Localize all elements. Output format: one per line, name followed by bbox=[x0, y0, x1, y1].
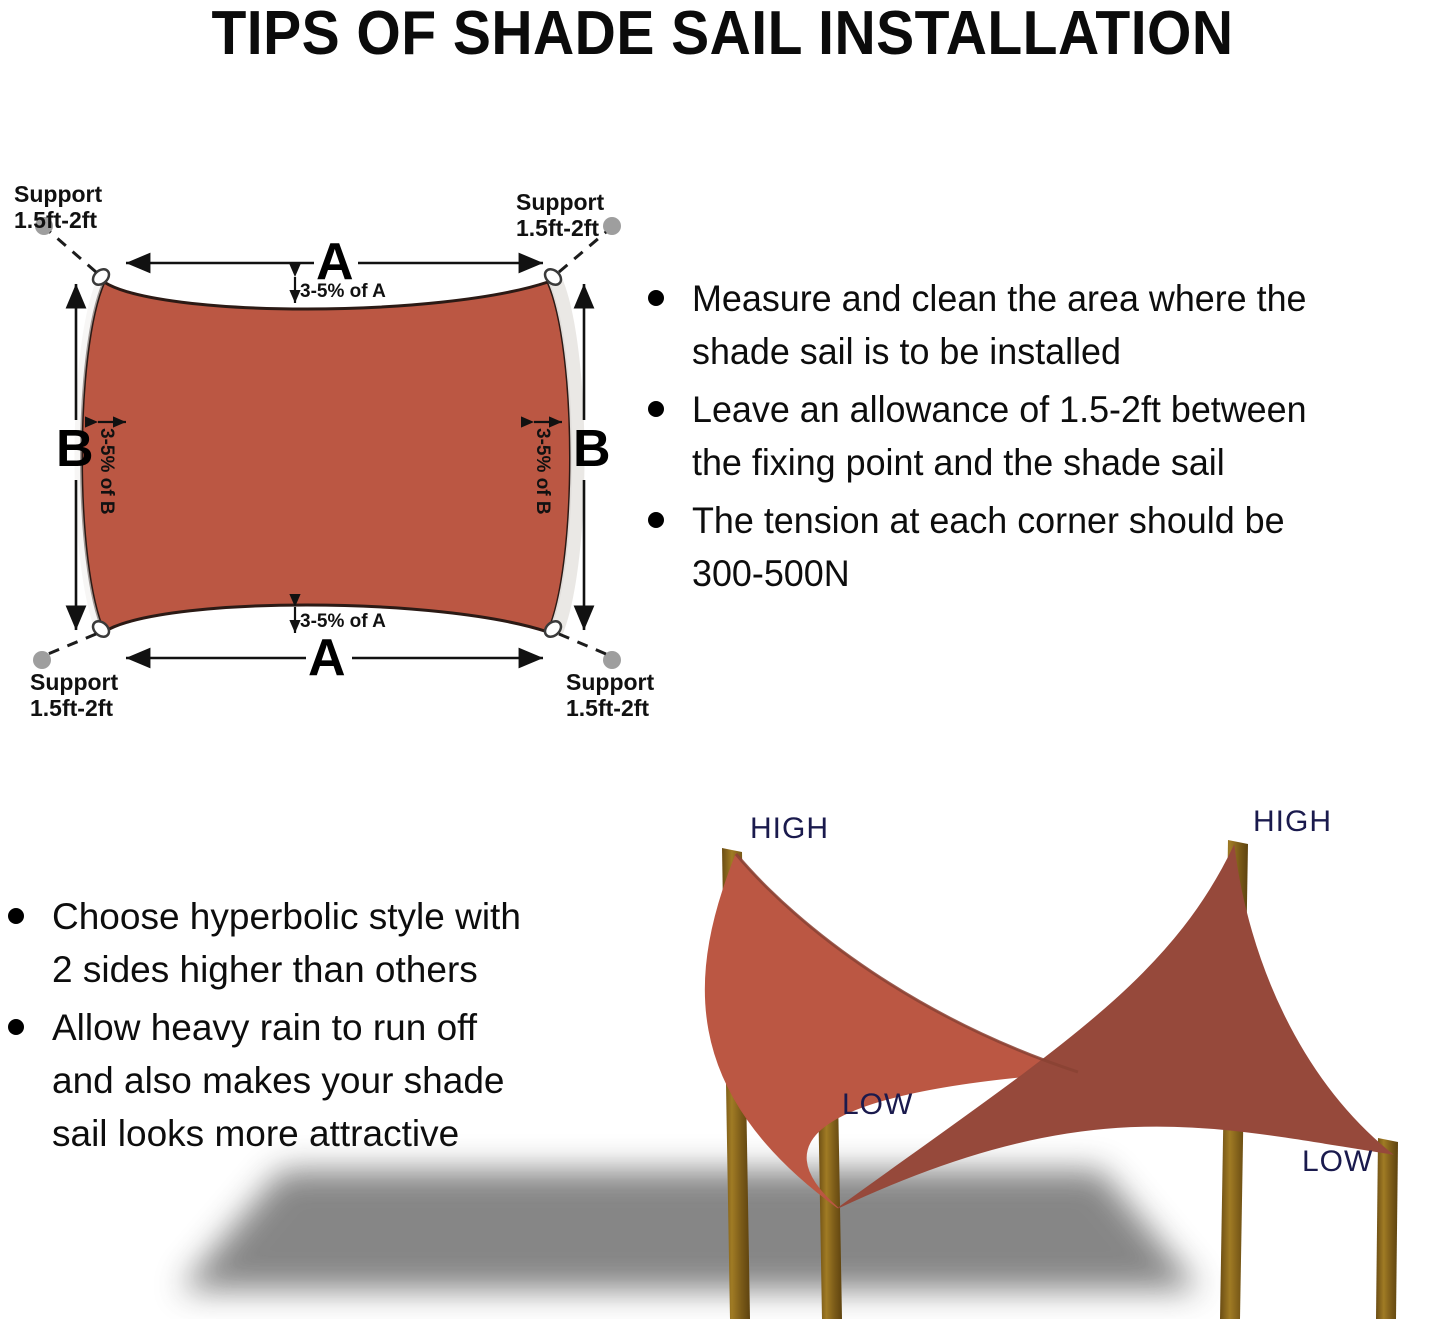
list-item: Allow heavy rain to run off and also mak… bbox=[8, 1001, 628, 1160]
tip-line: 2 sides higher than others bbox=[52, 943, 628, 996]
bullet-dot-icon bbox=[648, 401, 664, 417]
list-item: Measure and clean the area where the sha… bbox=[648, 272, 1445, 378]
bullet-dot-icon bbox=[648, 290, 664, 306]
support-label-line1: Support bbox=[14, 181, 102, 207]
tip-line: sail looks more attractive bbox=[52, 1107, 628, 1160]
tip-line: Leave an allowance of 1.5-2ft between bbox=[692, 383, 1425, 436]
support-label-line1: Support bbox=[516, 189, 604, 215]
post-low-right bbox=[1376, 1138, 1398, 1319]
support-label-top-left: Support 1.5ft-2ft bbox=[14, 182, 102, 234]
support-label-line1: Support bbox=[566, 669, 654, 695]
sail-panel-left bbox=[705, 854, 1078, 1208]
tip-line: Choose hyperbolic style with bbox=[52, 890, 628, 943]
tip-line: Allow heavy rain to run off bbox=[52, 1001, 628, 1054]
tip-line: 300-500N bbox=[692, 547, 1425, 600]
tip-line: Measure and clean the area where the bbox=[692, 272, 1425, 325]
page-title: TIPS OF SHADE SAIL INSTALLATION bbox=[58, 0, 1387, 69]
support-label-line2: 1.5ft-2ft bbox=[14, 208, 102, 234]
sail-seam bbox=[736, 854, 1078, 1072]
sail-shape bbox=[82, 282, 571, 632]
support-label-line1: Support bbox=[30, 669, 118, 695]
tip-line: the fixing point and the shade sail bbox=[692, 436, 1425, 489]
support-label-line2: 1.5ft-2ft bbox=[566, 696, 654, 722]
support-label-top-right: Support 1.5ft-2ft bbox=[516, 190, 604, 242]
bullet-dot-icon bbox=[8, 1019, 24, 1035]
dimension-label-b-left: B bbox=[56, 423, 94, 475]
bullet-dot-icon bbox=[648, 512, 664, 528]
tips-list-right: Measure and clean the area where the sha… bbox=[648, 272, 1445, 605]
dimension-label-a-bottom: A bbox=[308, 632, 346, 684]
curve-allowance-right: 3-5% of B bbox=[531, 428, 553, 515]
support-label-line2: 1.5ft-2ft bbox=[30, 696, 118, 722]
support-label-bottom-right: Support 1.5ft-2ft bbox=[566, 670, 654, 722]
list-item: The tension at each corner should be 300… bbox=[648, 494, 1445, 600]
tip-line: shade sail is to be installed bbox=[692, 325, 1425, 378]
dimension-label-b-right: B bbox=[573, 423, 611, 475]
curve-allowance-bottom: 3-5% of A bbox=[300, 611, 386, 633]
post-low-left bbox=[818, 1090, 842, 1319]
tips-list-bottom: Choose hyperbolic style with 2 sides hig… bbox=[8, 890, 628, 1165]
curve-allowance-top: 3-5% of A bbox=[300, 281, 386, 303]
label-high-right: HIGH bbox=[1253, 805, 1332, 839]
post-high-right bbox=[1220, 840, 1248, 1319]
post-high-left bbox=[722, 848, 750, 1319]
support-label-line2: 1.5ft-2ft bbox=[516, 216, 604, 242]
list-item: Leave an allowance of 1.5-2ft between th… bbox=[648, 383, 1445, 489]
infographic-page: TIPS OF SHADE SAIL INSTALLATION bbox=[0, 0, 1445, 1319]
curve-allowance-left: 3-5% of B bbox=[95, 428, 117, 515]
support-label-bottom-left: Support 1.5ft-2ft bbox=[30, 670, 118, 722]
tip-line: and also makes your shade bbox=[52, 1054, 628, 1107]
label-low-left: LOW bbox=[842, 1088, 913, 1122]
corner-eyelets bbox=[90, 266, 564, 640]
tip-line: The tension at each corner should be bbox=[692, 494, 1425, 547]
ground-shadow bbox=[180, 1170, 1200, 1290]
label-low-right: LOW bbox=[1302, 1145, 1373, 1179]
list-item: Choose hyperbolic style with 2 sides hig… bbox=[8, 890, 628, 996]
bullet-dot-icon bbox=[8, 908, 24, 924]
label-high-left: HIGH bbox=[750, 812, 829, 846]
